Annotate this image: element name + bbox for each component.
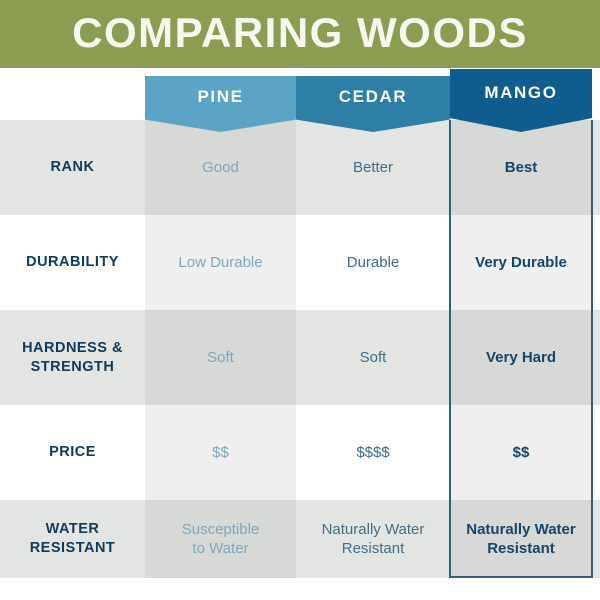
cell-cedar-0: Better xyxy=(296,120,450,215)
comparison-infographic: COMPARING WOODS PINE CEDAR MANGO RANKGoo… xyxy=(0,0,600,600)
cell-text: Soft xyxy=(360,348,387,367)
cell-text: Susceptibleto Water xyxy=(182,520,260,558)
cell-text: Better xyxy=(353,158,393,177)
cell-pine-2: Soft xyxy=(145,310,296,405)
cell-text: Low Durable xyxy=(178,253,262,272)
cell-text: Naturally WaterResistant xyxy=(322,520,425,558)
cell-text: WATERRESISTANT xyxy=(30,520,116,557)
cell-cedar-1: Durable xyxy=(296,215,450,310)
cell-cedar-3: $$$$ xyxy=(296,405,450,500)
cell-text: PRICE xyxy=(49,443,96,462)
cell-pine-4: Susceptibleto Water xyxy=(145,500,296,578)
cell-text: $$$$ xyxy=(356,443,389,462)
row-label-2: HARDNESS &STRENGTH xyxy=(0,310,145,405)
cell-text: Good xyxy=(202,158,239,177)
cell-pine-1: Low Durable xyxy=(145,215,296,310)
cell-text: Best xyxy=(505,158,538,177)
row-label-0: RANK xyxy=(0,120,145,215)
cell-text: Very Durable xyxy=(475,253,567,272)
cell-cedar-4: Naturally WaterResistant xyxy=(296,500,450,578)
cell-pine-0: Good xyxy=(145,120,296,215)
cell-mango-4: Naturally WaterResistant xyxy=(450,500,592,578)
cell-text: Very Hard xyxy=(486,348,556,367)
cell-text: HARDNESS &STRENGTH xyxy=(22,339,123,376)
cell-text: $$ xyxy=(212,443,229,462)
row-label-3: PRICE xyxy=(0,405,145,500)
row-label-1: DURABILITY xyxy=(0,215,145,310)
comparison-grid: RANKGoodBetterBestDURABILITYLow DurableD… xyxy=(0,120,600,578)
cell-text: $$ xyxy=(513,443,530,462)
cell-mango-0: Best xyxy=(450,120,592,215)
page-title: COMPARING WOODS xyxy=(0,0,600,66)
cell-text: Naturally WaterResistant xyxy=(466,520,575,558)
cell-cedar-2: Soft xyxy=(296,310,450,405)
cell-pine-3: $$ xyxy=(145,405,296,500)
cell-text: DURABILITY xyxy=(26,253,119,272)
cell-text: Durable xyxy=(347,253,400,272)
row-label-4: WATERRESISTANT xyxy=(0,500,145,578)
title-banner: COMPARING WOODS xyxy=(0,0,600,68)
cell-mango-1: Very Durable xyxy=(450,215,592,310)
cell-text: RANK xyxy=(51,158,95,177)
cell-mango-2: Very Hard xyxy=(450,310,592,405)
cell-text: Soft xyxy=(207,348,234,367)
cell-mango-3: $$ xyxy=(450,405,592,500)
